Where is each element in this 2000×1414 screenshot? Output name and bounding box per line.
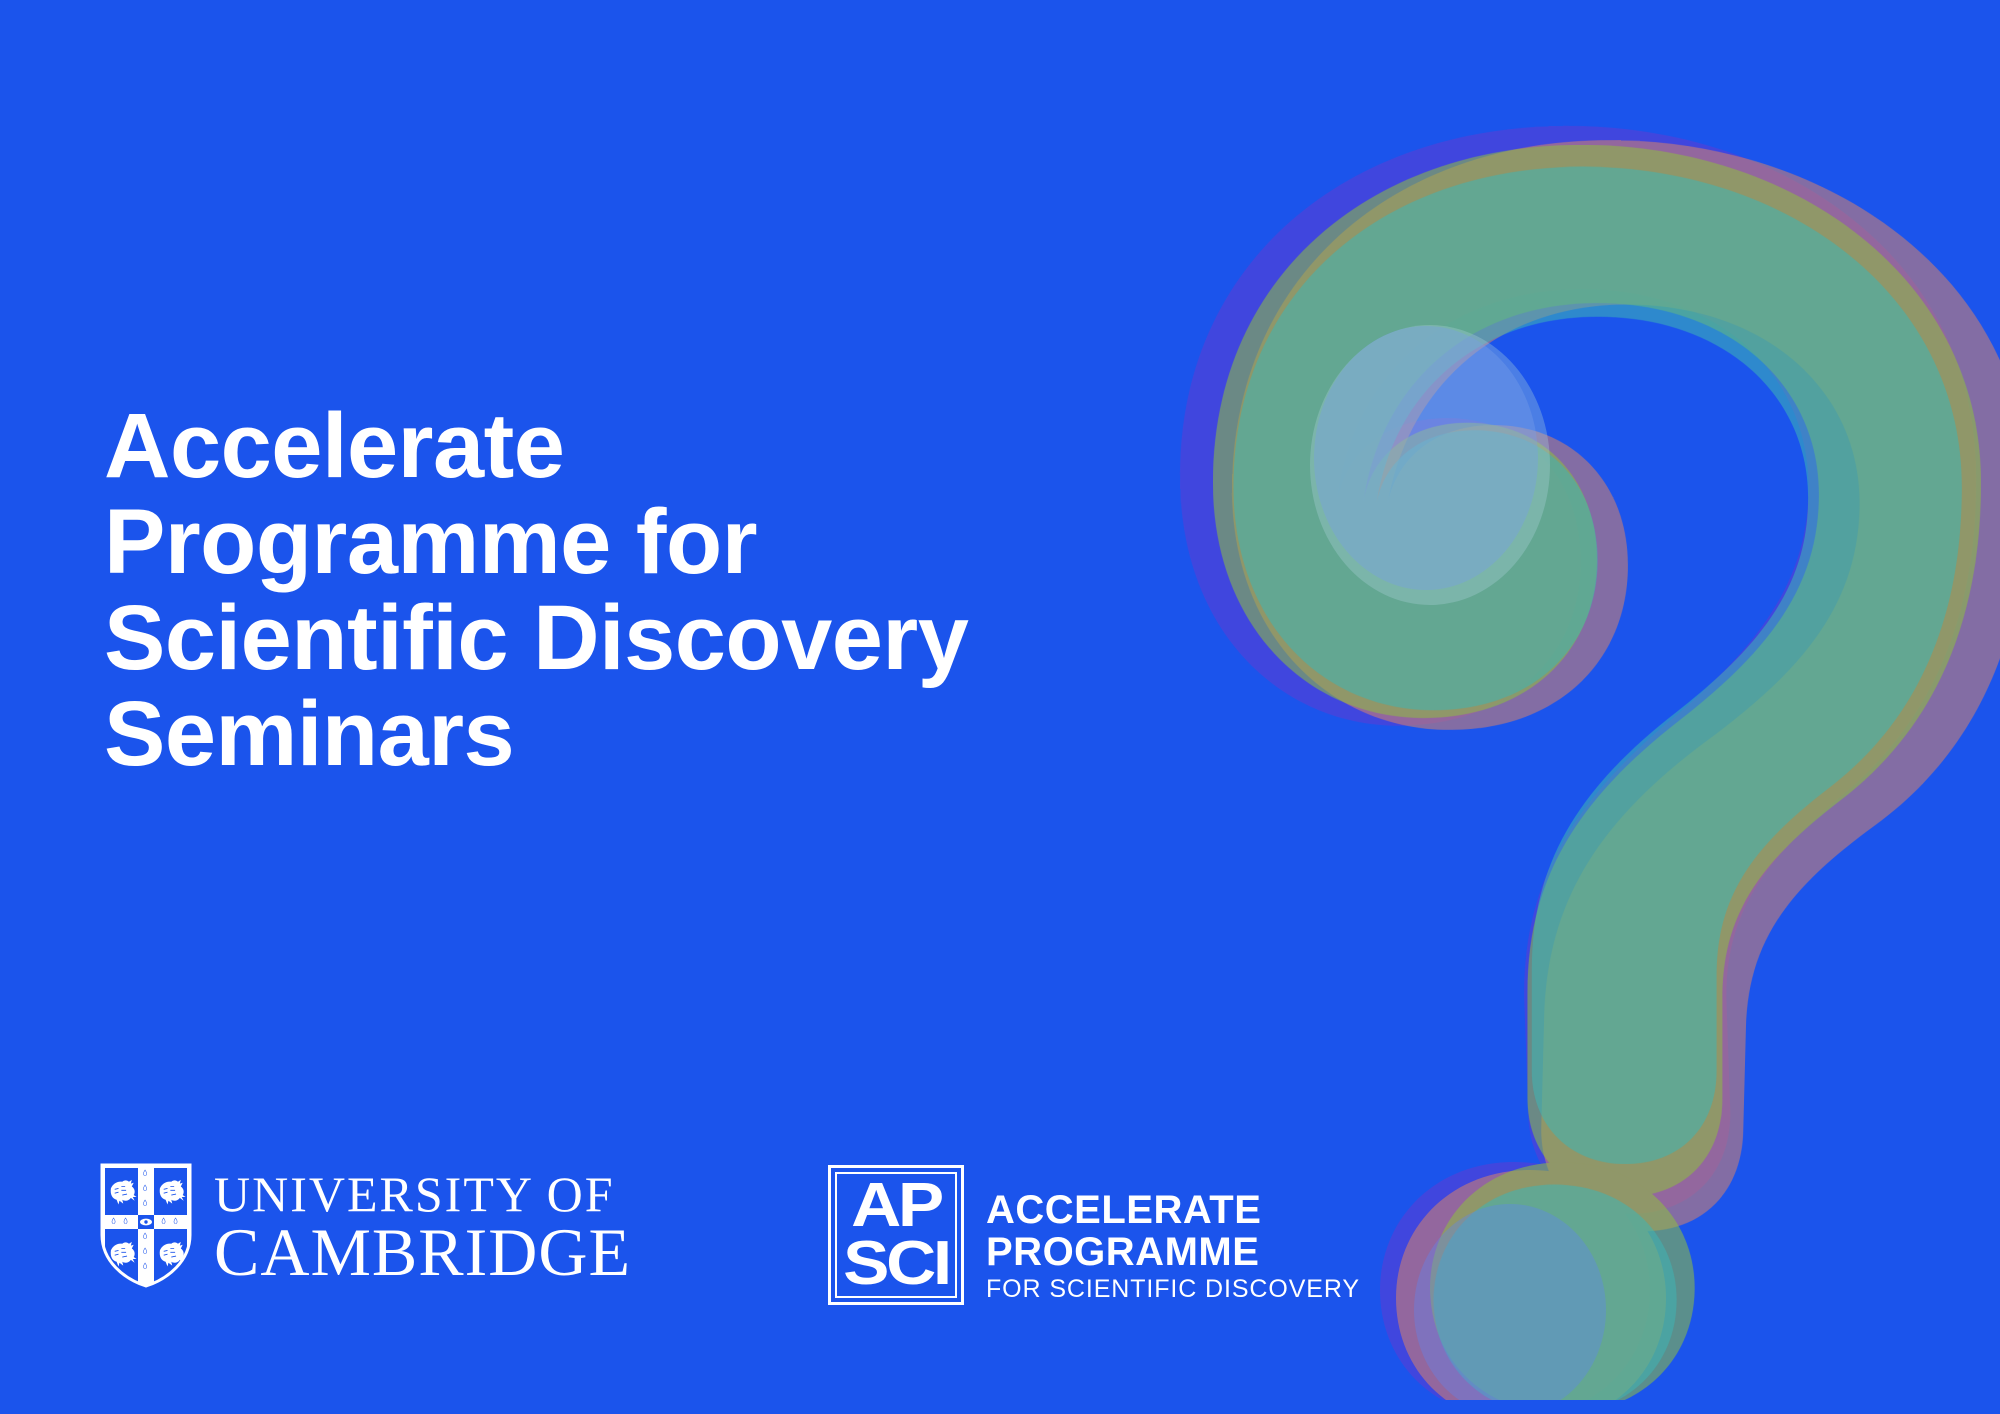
cambridge-wordmark-line-2: CAMBRIDGE	[214, 1219, 631, 1286]
qmark-inner-shapes	[1310, 325, 1550, 605]
apsci-wordmark-line-2: PROGRAMME	[986, 1231, 1360, 1273]
title-line-2: Programme for	[104, 494, 1184, 590]
title-line-3: Scientific Discovery	[104, 590, 1184, 686]
title-line-4: Seminars	[104, 686, 1184, 782]
apsci-wordmark-line-3: FOR SCIENTIFIC DISCOVERY	[986, 1273, 1360, 1304]
apsci-mark-line-2: SCI	[835, 1235, 957, 1293]
accelerate-programme-logo: AP SCI ACCELERATE PROGRAMME FOR SCIENTIF…	[828, 1165, 1360, 1305]
university-of-cambridge-logo: UNIVERSITY OF CAMBRIDGE	[100, 1163, 631, 1288]
cambridge-wordmark: UNIVERSITY OF CAMBRIDGE	[214, 1166, 631, 1286]
page-title: Accelerate Programme for Scientific Disc…	[104, 398, 1184, 782]
cambridge-crest-icon	[100, 1163, 192, 1288]
title-line-1: Accelerate	[104, 398, 1184, 494]
apsci-mark-line-1: AP	[835, 1177, 957, 1235]
apsci-wordmark-line-1: ACCELERATE	[986, 1189, 1360, 1231]
seminar-title-slide: Accelerate Programme for Scientific Disc…	[0, 0, 2000, 1414]
cambridge-wordmark-line-1: UNIVERSITY OF	[214, 1170, 631, 1219]
apsci-box-icon: AP SCI	[828, 1165, 964, 1305]
logo-row: UNIVERSITY OF CAMBRIDGE AP SCI ACCELERAT…	[0, 1155, 2000, 1335]
apsci-wordmark: ACCELERATE PROGRAMME FOR SCIENTIFIC DISC…	[986, 1165, 1360, 1304]
